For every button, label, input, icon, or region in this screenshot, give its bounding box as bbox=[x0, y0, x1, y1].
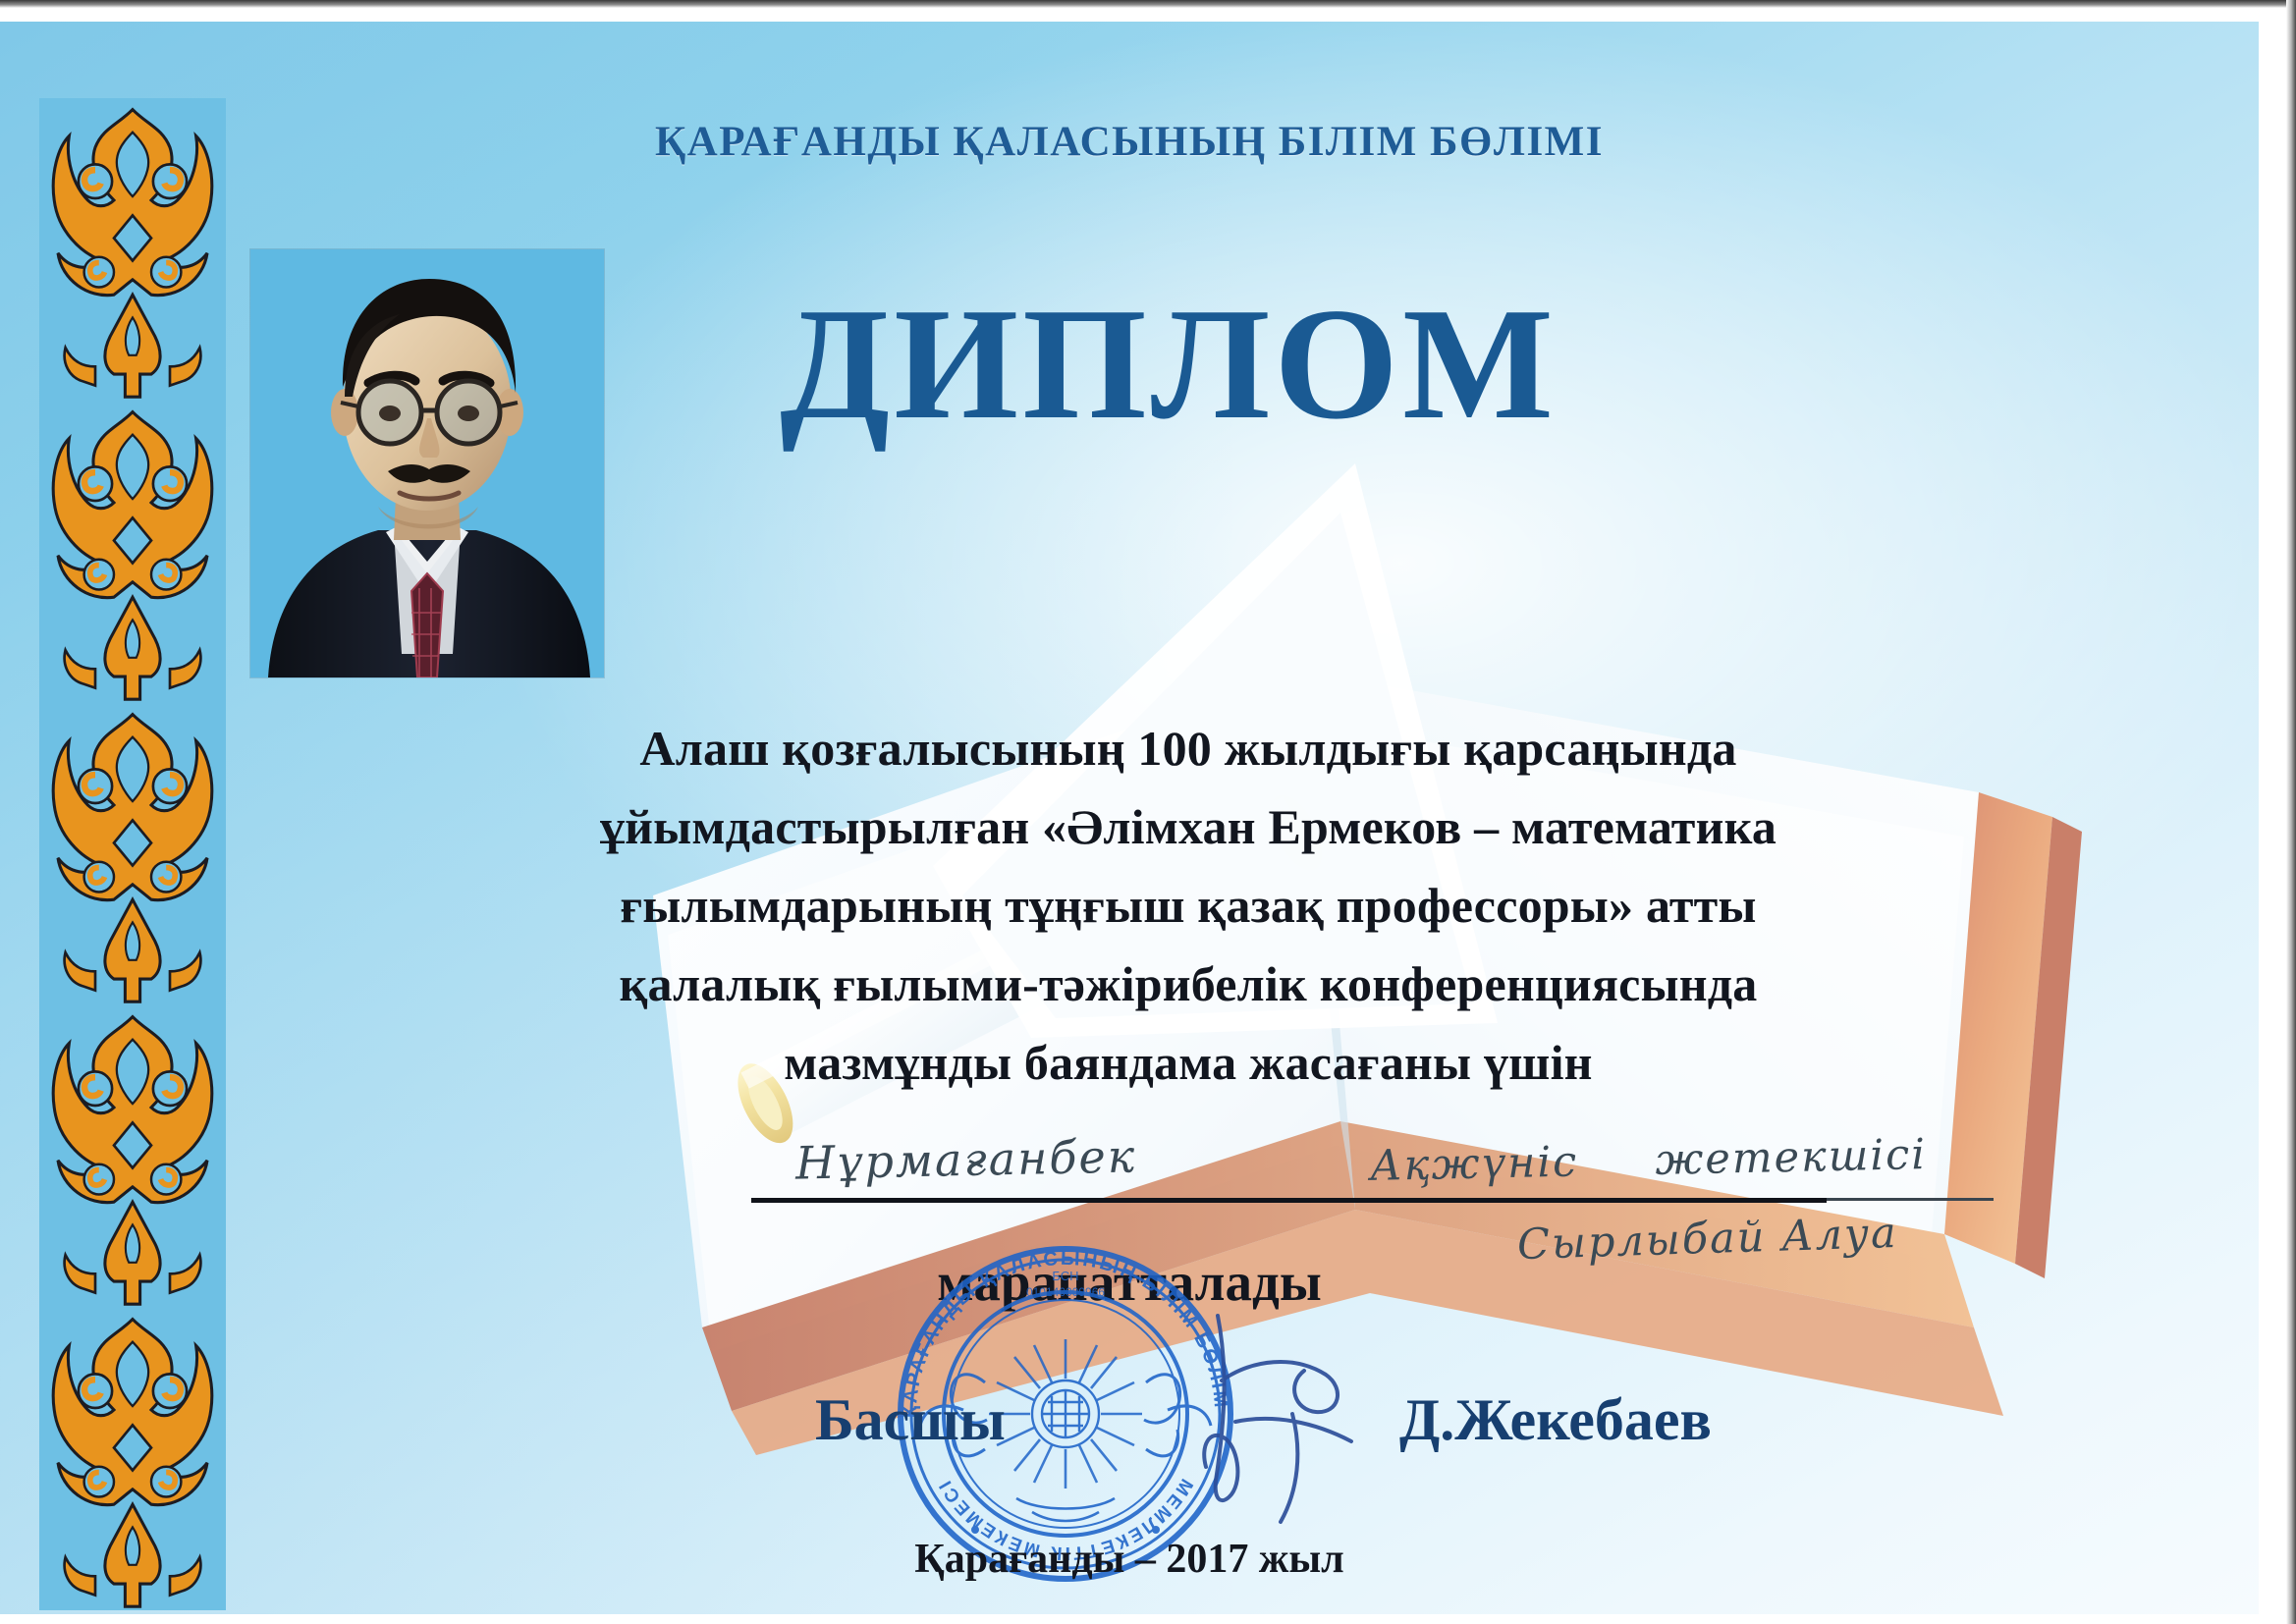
body-line-4: қалалық ғылыми-тәжірибелік конференциясы… bbox=[324, 945, 2052, 1023]
certificate: ҚАРАҒАНДЫ ҚАЛАСЫНЫҢ БІЛІМ БӨЛІМІ ДИПЛОМ … bbox=[0, 22, 2259, 1614]
body-line-1: Алаш қозғалысының 100 жылдығы қарсаңында bbox=[324, 709, 2052, 787]
portrait-alimkhan-ermekov bbox=[250, 249, 604, 677]
signature-row: Басшы Д.Жекебаев bbox=[0, 1386, 2259, 1475]
body-line-2: ұйымдастырылған «Әлімхан Ермеков – матем… bbox=[324, 787, 2052, 866]
recipient-rule-secondary bbox=[1827, 1198, 1994, 1201]
svg-text:БСН: БСН bbox=[1052, 1269, 1078, 1283]
signature-title: Басшы bbox=[815, 1386, 1006, 1454]
signature-name: Д.Жекебаев bbox=[1399, 1386, 1712, 1454]
kazakh-ornament-band bbox=[39, 98, 226, 1610]
svg-text:010140009966: 010140009966 bbox=[1026, 1285, 1105, 1299]
scan-page: ҚАРАҒАНДЫ ҚАЛАСЫНЫҢ БІЛІМ БӨЛІМІ ДИПЛОМ … bbox=[0, 0, 2296, 1624]
body-line-3: ғылымдарының тұңғыш қазақ профессоры» ат… bbox=[324, 866, 2052, 945]
handwritten-role: жетекшісі bbox=[1655, 1130, 1928, 1185]
scan-edge-right bbox=[2286, 0, 2296, 1624]
page-title: ДИПЛОМ bbox=[629, 285, 1709, 445]
body-text: Алаш қозғалысының 100 жылдығы қарсаңында… bbox=[324, 709, 2052, 1102]
recipient-rule bbox=[751, 1198, 1827, 1203]
body-line-5: мазмұнды баяндама жасағаны үшін bbox=[324, 1023, 2052, 1102]
scan-edge-top bbox=[0, 0, 2296, 8]
handwritten-second-name: Ақжүніс bbox=[1370, 1138, 1579, 1191]
department-header: ҚАРАҒАНДЫ ҚАЛАСЫНЫҢ БІЛІМ БӨЛІМІ bbox=[0, 118, 2259, 166]
place-and-year: Қарағанды – 2017 жыл bbox=[0, 1536, 2259, 1583]
handwritten-recipient-name: Нұрмағанбек bbox=[794, 1129, 1136, 1189]
handwritten-recipient-second-name: Ақжүніс жетекшісі bbox=[1370, 1130, 1928, 1191]
